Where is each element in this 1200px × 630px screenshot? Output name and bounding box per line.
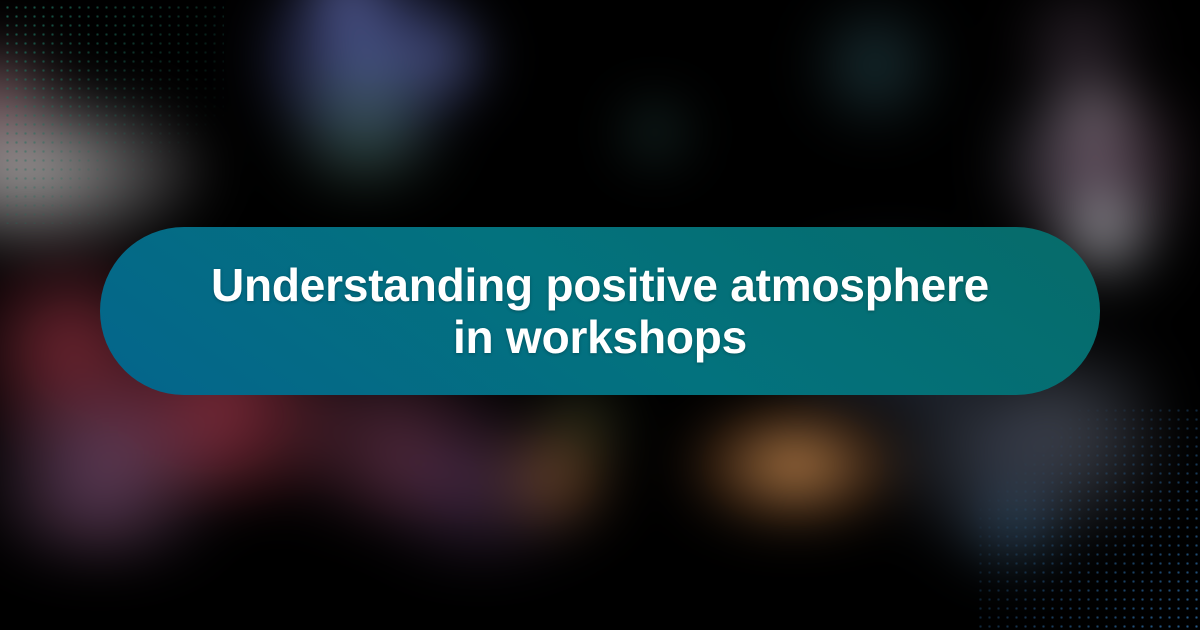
social-card: Understanding positive atmosphere in wor… [0, 0, 1200, 630]
background-blob-green-center [260, 70, 470, 190]
title-pill: Understanding positive atmosphere in wor… [100, 227, 1100, 395]
background-blob-cyan-bottom [940, 480, 1090, 570]
background-blob-white-small [1050, 70, 1140, 160]
background-blob-teal-small [610, 95, 700, 170]
background-blob-teal-triangle [800, 0, 950, 135]
page-title: Understanding positive atmosphere in wor… [211, 259, 989, 364]
